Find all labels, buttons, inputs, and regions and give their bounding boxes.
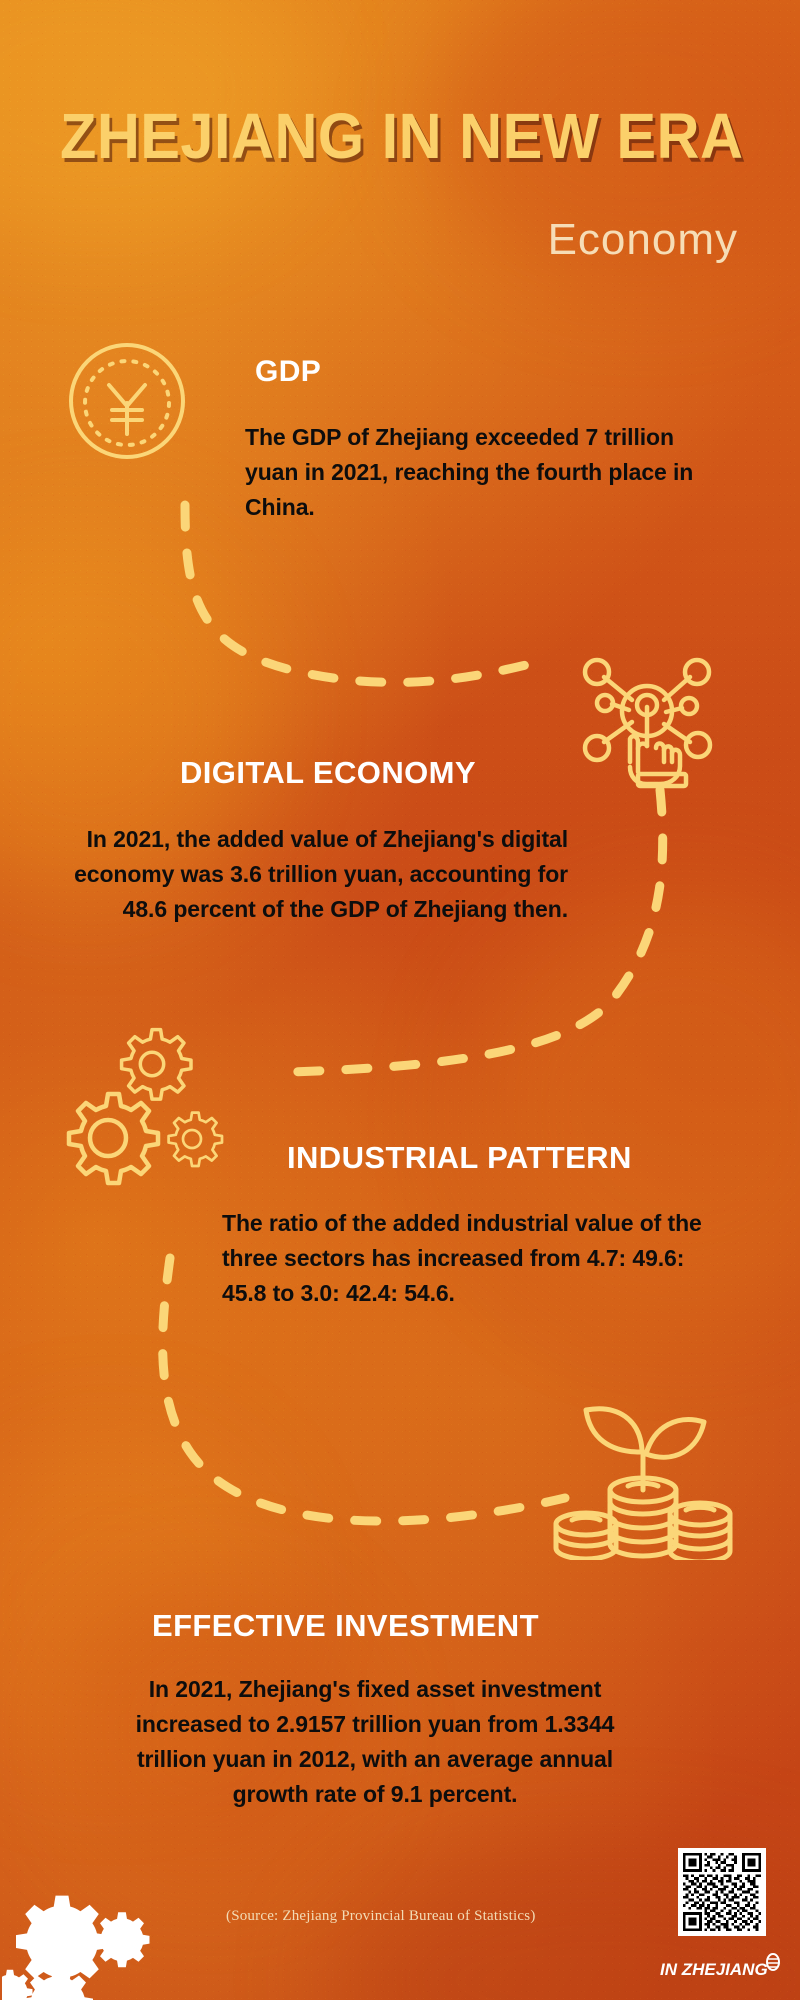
brand-logo-text: IN ZHEJIANG [660,1960,768,1979]
money-plant-icon [548,1380,738,1565]
bottom-gears-icon [2,1882,172,2000]
gears-icon [60,1020,250,1205]
section-body-industrial-pattern: The ratio of the added industrial value … [222,1206,722,1311]
network-hand-icon [572,650,722,795]
infographic-poster: ZHEJIANG IN NEW ERA Economy [0,0,800,2000]
section-body-effective-investment: In 2021, Zhejiang's fixed asset investme… [120,1672,630,1812]
section-heading-digital-economy: DIGITAL ECONOMY [180,755,476,791]
section-heading-effective-investment: EFFECTIVE INVESTMENT [152,1608,539,1644]
qr-code[interactable] [678,1848,766,1936]
connector-gdp-to-digital [185,505,530,682]
section-heading-gdp: GDP [255,355,321,389]
page-subtitle: Economy [548,215,738,265]
brand-logo: IN ZHEJIANG [660,1953,782,1983]
section-body-digital-economy: In 2021, the added value of Zhejiang's d… [28,822,568,927]
source-note: (Source: Zhejiang Provincial Bureau of S… [226,1908,536,1925]
section-body-gdp: The GDP of Zhejiang exceeded 7 trillion … [245,420,715,525]
page-title: ZHEJIANG IN NEW ERA [60,104,743,168]
section-heading-industrial-pattern: INDUSTRIAL PATTERN [287,1140,632,1176]
yen-coin-icon [66,340,188,467]
